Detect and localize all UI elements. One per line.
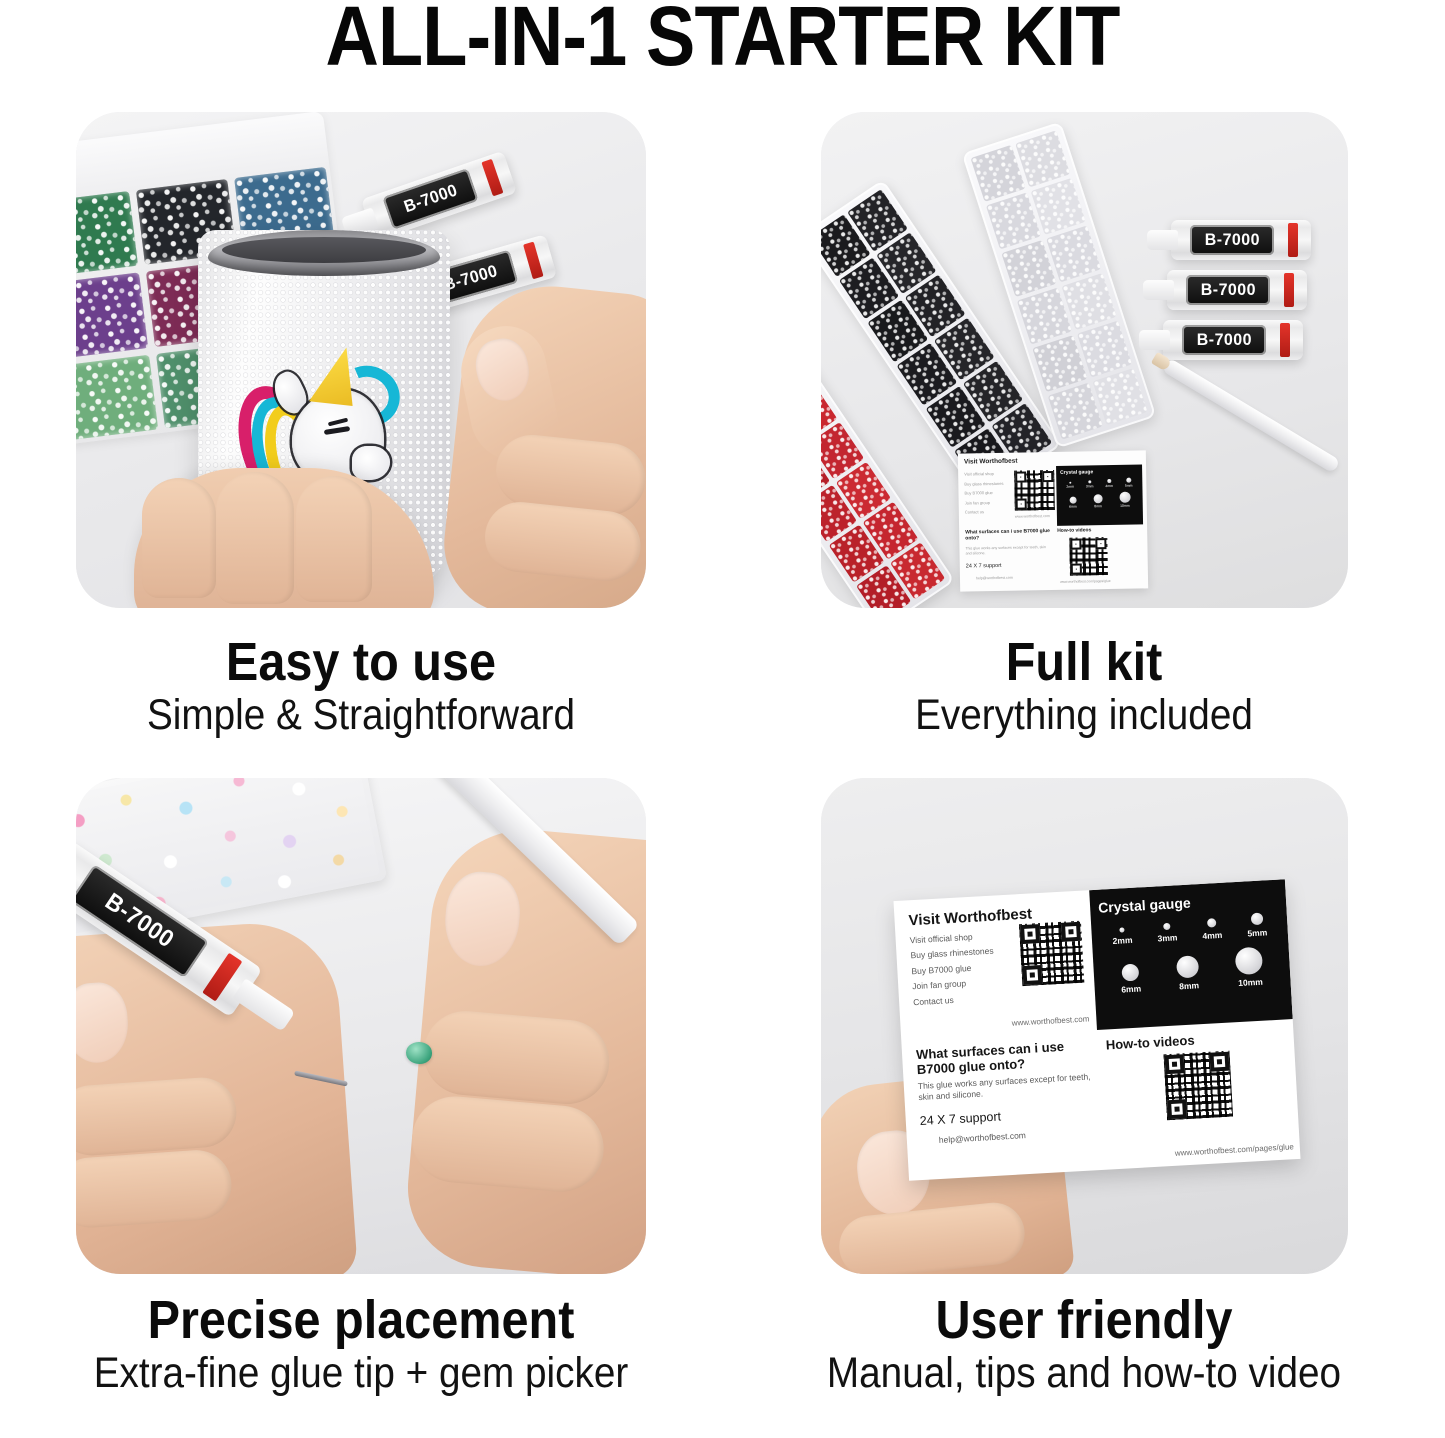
thumbnail [76, 981, 131, 1065]
gauge-label: 6mm [1069, 505, 1077, 509]
gauge-row-bottom: 6mm 8mm 10mm [1100, 946, 1282, 996]
gauge-dot [1069, 497, 1076, 504]
finger [216, 472, 294, 604]
glue-label-text: B-7000 [1196, 330, 1251, 350]
caption-user-friendly: User friendly Manual, tips and how-to vi… [723, 1292, 1445, 1398]
gauge-item: 6mm [1068, 497, 1076, 509]
card-list-item: Contact us [964, 507, 1003, 517]
gauge-dot [1107, 479, 1111, 483]
glue-nozzle [1139, 330, 1170, 349]
finger [836, 1200, 1027, 1274]
card-visit-url: www.worthofbest.com [1014, 514, 1049, 519]
glue-label: B-7000 [1186, 275, 1270, 305]
qr-eye [1070, 564, 1081, 575]
tray-cell [1046, 225, 1101, 282]
tray-cell [1015, 130, 1070, 187]
gauge-dot [1119, 492, 1130, 503]
glue-tube-2: B-7000 [1167, 270, 1307, 310]
caption-precise-placement: Precise placement Extra-fine glue tip + … [0, 1292, 722, 1398]
qr-code-shop [1014, 470, 1055, 511]
tray-cell [985, 192, 1040, 249]
card-surfaces-heading: What surfaces can i use B7000 glue onto? [965, 528, 1051, 541]
qr-eye [1070, 539, 1081, 550]
caption-heading: Full kit [759, 634, 1409, 691]
gauge-dot [1206, 918, 1215, 927]
glue-label-text: B-7000 [1200, 280, 1255, 300]
qr-eye [1042, 471, 1053, 482]
gauge-item: 5mm [1124, 478, 1132, 488]
finger [420, 1008, 613, 1108]
photo-full-kit: B-7000 B-7000 B-7000 [821, 112, 1348, 608]
qr-eye [1015, 498, 1026, 509]
gauge-label: 10mm [1120, 504, 1129, 508]
card-list-item: Contact us [912, 988, 1084, 1007]
gauge-label: 4mm [1202, 930, 1222, 941]
tray-cell [1030, 178, 1085, 235]
card-howto-url: www.worthofbest.com/pages/glue [1060, 579, 1111, 584]
thumbnail [441, 869, 523, 969]
gauge-row-bottom: 6mm 8mm 10mm [1060, 492, 1138, 509]
card-quadrant-gauge: Crystal gauge 2mm 3mm 4mm [1089, 879, 1293, 1030]
caption-subheading: Extra-fine glue tip + gem picker [36, 1349, 686, 1398]
gauge-dot [1176, 955, 1199, 978]
caption-heading: Precise placement [36, 1292, 686, 1349]
card-support-email: help@worthofbest.com [975, 576, 1012, 581]
qr-eye [1015, 471, 1026, 482]
tray-cell [1092, 368, 1147, 425]
gauge-dot [1163, 923, 1170, 930]
card-surfaces-body: This glue works any surfaces except for … [965, 545, 1051, 556]
compartment-green [76, 191, 138, 277]
glue-red-stripe [1284, 273, 1294, 307]
gauge-title: Crystal gauge [1097, 890, 1278, 916]
card-visit-url: www.worthofbest.com [1011, 1014, 1089, 1027]
finger [408, 1093, 607, 1195]
card-visit-items: Visit official shop Buy glass rhinestone… [964, 469, 1004, 518]
gauge-label: 2mm [1066, 485, 1074, 489]
gauge-item: 3mm [1085, 480, 1093, 488]
caption-full-kit: Full kit Everything included [723, 634, 1445, 740]
photo-easy-to-use: B-7000 B-7000 [76, 112, 646, 608]
qr-eye [1164, 1054, 1184, 1074]
caption-subheading: Manual, tips and how-to video [759, 1349, 1409, 1398]
gauge-label: 2mm [1112, 935, 1132, 946]
glue-red-stripe [481, 159, 503, 197]
compartment-mint [76, 354, 158, 440]
glue-red-stripe [1280, 323, 1290, 357]
page-title: ALL-IN-1 STARTER KIT [87, 0, 1359, 78]
tray-cell [1001, 240, 1056, 297]
panel-easy-to-use: B-7000 B-7000 [0, 112, 722, 772]
card-surfaces-heading: What surfaces can i use B7000 glue onto? [915, 1038, 1090, 1077]
gauge-item: 2mm [1066, 482, 1074, 489]
card-quadrant-surfaces: What surfaces can i use B7000 glue onto?… [901, 1030, 1105, 1181]
qr-code-howto [1069, 537, 1108, 576]
tray-cell [1032, 335, 1087, 392]
instruction-card-mini: Visit Worthofbest Visit official shop Bu… [957, 450, 1147, 591]
gauge-label: 5mm [1124, 484, 1132, 488]
caption-subheading: Everything included [759, 691, 1409, 740]
card-surfaces-body: This glue works any surfaces except for … [917, 1071, 1092, 1102]
card-quadrant-visit: Visit Worthofbest Visit official shop Bu… [893, 890, 1097, 1041]
gauge-label: 10mm [1237, 977, 1262, 988]
gauge-dot [1121, 964, 1139, 982]
gauge-item: 8mm [1093, 494, 1102, 508]
gauge-dot [1119, 927, 1124, 932]
gauge-item-2mm: 2mm [1111, 927, 1132, 946]
card-quadrant-howto: How-to videos www.worthofbest.com/pages/… [1097, 1019, 1301, 1170]
glue-label: B-7000 [1182, 325, 1266, 355]
gauge-dot [1088, 480, 1091, 483]
panel-user-friendly: Visit Worthofbest Visit official shop Bu… [723, 778, 1445, 1438]
glue-nozzle [1143, 280, 1174, 299]
tray-cell [970, 145, 1025, 202]
panel-precise-placement: B-7000 Precise placement Extra-fine glue… [0, 778, 722, 1438]
tray-cell [1061, 273, 1116, 330]
qr-eye [1060, 922, 1080, 942]
thumbnail [471, 334, 535, 405]
green-gem [406, 1042, 432, 1064]
card-howto-heading: How-to videos [1105, 1027, 1286, 1052]
photo-user-friendly: Visit Worthofbest Visit official shop Bu… [821, 778, 1348, 1274]
gauge-label: 3mm [1085, 484, 1093, 488]
qr-eye [1095, 538, 1106, 549]
caption-heading: Easy to use [36, 634, 686, 691]
finger [142, 478, 216, 598]
gauge-label: 8mm [1178, 980, 1198, 991]
gauge-item-4mm: 4mm [1201, 918, 1222, 941]
glue-label-text: B-7000 [1204, 230, 1259, 250]
glue-label-text: B-7000 [401, 180, 460, 217]
photo-precise-placement: B-7000 [76, 778, 646, 1274]
finger [76, 1148, 234, 1230]
card-support-heading: 24 X 7 support [965, 563, 1001, 570]
unicorn-muzzle [352, 446, 390, 480]
finger [76, 1075, 239, 1157]
qr-eye [1167, 1099, 1187, 1119]
glue-nozzle [1147, 230, 1178, 249]
card-visit-heading: Visit Worthofbest [963, 458, 1017, 466]
gauge-dot [1235, 947, 1263, 975]
glue-label: B-7000 [1190, 225, 1274, 255]
gauge-dot [1125, 478, 1130, 483]
gauge-label: 3mm [1157, 932, 1177, 943]
finger [296, 476, 372, 602]
qr-eye [1022, 965, 1042, 985]
gauge-label: 4mm [1105, 484, 1113, 488]
gauge-item-5mm: 5mm [1246, 912, 1267, 938]
glue-red-stripe [1288, 223, 1298, 257]
gauge-dot [1093, 494, 1102, 503]
gauge-label: 5mm [1247, 927, 1267, 938]
qr-eye [1209, 1052, 1229, 1072]
card-howto-heading: How-to videos [1057, 527, 1091, 534]
card-howto-url: www.worthofbest.com/pages/glue [1174, 1142, 1293, 1158]
glue-red-stripe [523, 241, 543, 279]
gauge-item-3mm: 3mm [1156, 922, 1177, 943]
tray-cell [1076, 321, 1131, 378]
qr-eye [1020, 924, 1040, 944]
glue-tube-1: B-7000 [1171, 220, 1311, 260]
gauge-item-6mm: 6mm [1119, 964, 1140, 995]
gauge-dot [1250, 913, 1263, 926]
card-support-email: help@worthofbest.com [920, 1127, 1094, 1147]
tray-cell [1047, 383, 1102, 440]
infographic-page: ALL-IN-1 STARTER KIT [0, 0, 1445, 1438]
gauge-row-top: 2mm 3mm 4mm 5mm [1060, 478, 1138, 489]
panel-full-kit: B-7000 B-7000 B-7000 [723, 112, 1445, 772]
gauge-item-10mm: 10mm [1235, 947, 1264, 988]
caption-heading: User friendly [759, 1292, 1409, 1349]
qr-code-howto [1163, 1051, 1233, 1121]
caption-subheading: Simple & Straightforward [36, 691, 686, 740]
card-list-item: Buy glass rhinestones [964, 478, 1003, 488]
gauge-dot [1069, 482, 1071, 484]
tumbler-rim [208, 230, 440, 276]
gauge-item-8mm: 8mm [1176, 955, 1200, 991]
glue-tube-3: B-7000 [1163, 320, 1303, 360]
compartment-purple [76, 273, 148, 359]
card-support-heading: 24 X 7 support [919, 1105, 1094, 1129]
gauge-item: 4mm [1105, 479, 1113, 488]
caption-easy-to-use: Easy to use Simple & Straightforward [0, 634, 722, 740]
gauge-title: Crystal gauge [1060, 469, 1138, 476]
gauge-label: 6mm [1121, 983, 1141, 994]
gauge-row-top: 2mm 3mm 4mm 5mm [1098, 912, 1279, 947]
gauge-item: 10mm [1119, 492, 1130, 508]
tray-cell [1016, 288, 1071, 345]
hand-holding-picker [401, 822, 646, 1274]
gauge-label: 8mm [1094, 504, 1102, 508]
crystal-gauge-mini: Crystal gauge 2mm 3mm 4mm [1056, 464, 1143, 525]
qr-code-shop [1018, 921, 1083, 986]
instruction-card: Visit Worthofbest Visit official shop Bu… [893, 879, 1300, 1180]
